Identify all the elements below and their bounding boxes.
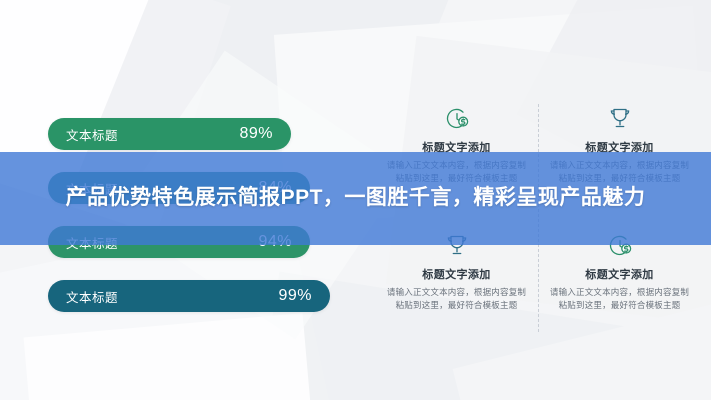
bar-label: 文本标题 [66,125,118,144]
page-title: 产品优势特色展示简报PPT，一图胜千言，精彩呈现产品魅力 [36,183,676,213]
progress-bar-row[interactable]: 文本标题 89% [48,118,291,150]
bar-value: 89% [239,125,273,143]
feature-body: 请输入正文文本内容，根据内容复制粘贴到这里，最好符合模板主题 [384,286,529,312]
title-overlay-band: 产品优势特色展示简报PPT，一图胜千言，精彩呈现产品魅力 [0,152,711,245]
feature-item-4[interactable]: 标题文字添加 请输入正文文本内容，根据内容复制粘贴到这里，最好符合模板主题 [541,231,698,344]
bar-label: 文本标题 [66,287,118,306]
feature-item-3[interactable]: 标题文字添加 请输入正文文本内容，根据内容复制粘贴到这里，最好符合模板主题 [378,231,535,344]
slide-canvas: 文本标题 89% 文本标题 84% 文本标题 94% 文本标题 99% [0,0,711,400]
feature-title: 标题文字添加 [384,266,529,282]
feature-title: 标题文字添加 [547,266,692,282]
bar-value: 99% [278,287,312,305]
progress-bar-row[interactable]: 文本标题 99% [48,280,330,312]
trophy-icon [547,104,692,134]
feature-body: 请输入正文文本内容，根据内容复制粘贴到这里，最好符合模板主题 [547,286,692,312]
clock-money-icon [384,104,529,134]
